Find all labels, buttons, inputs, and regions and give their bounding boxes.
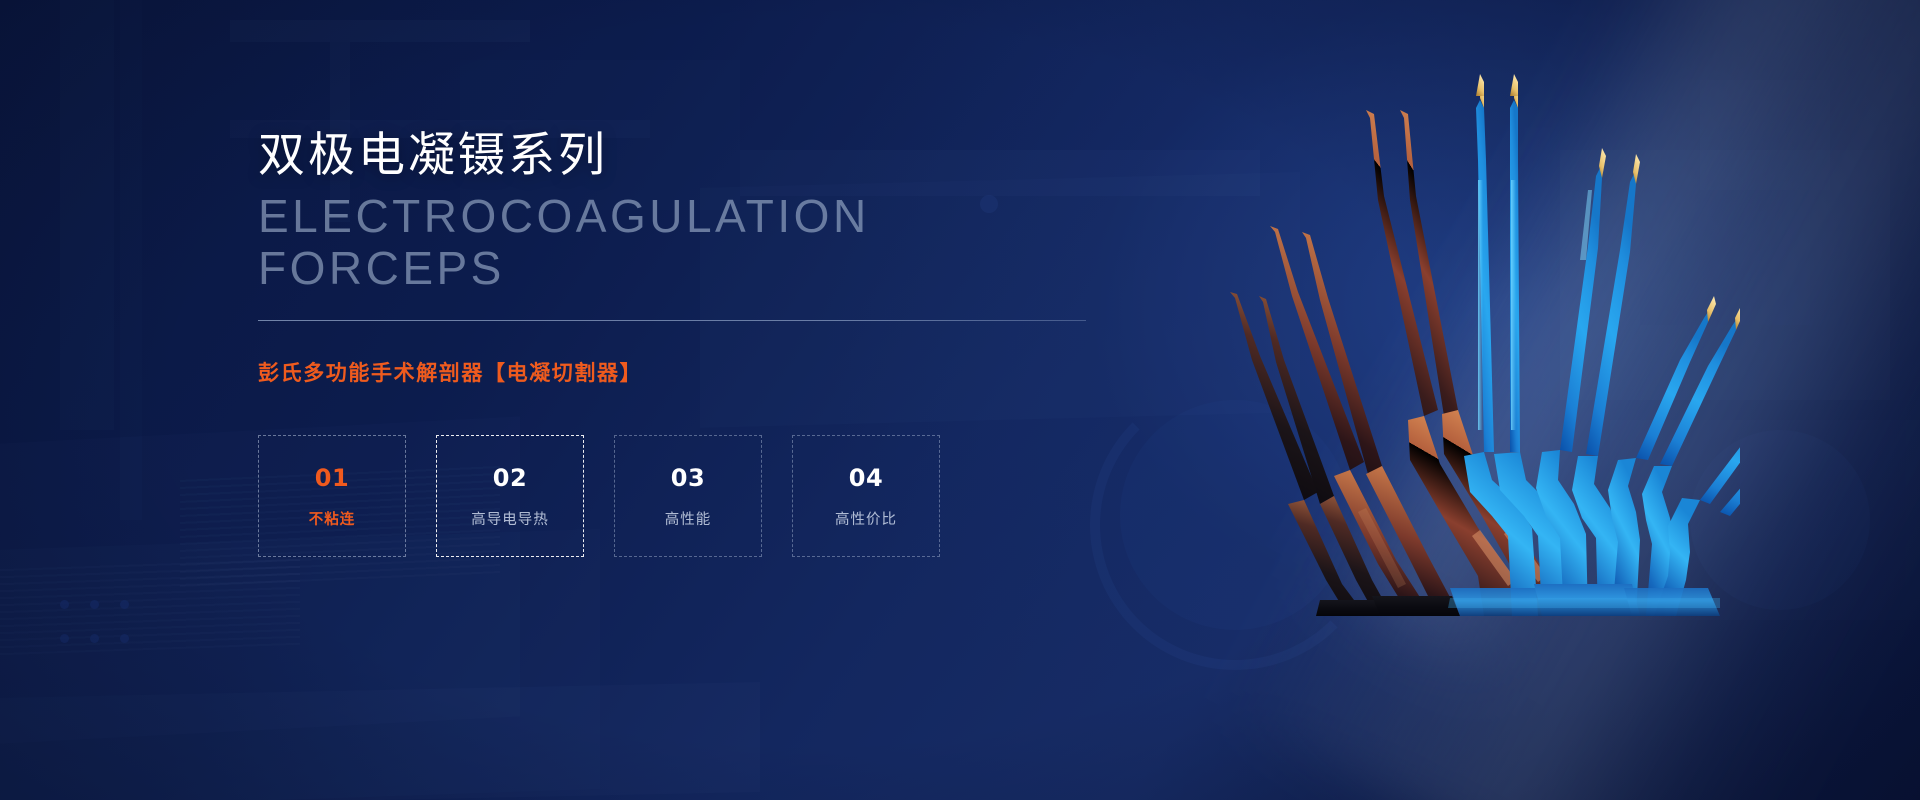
feature-label: 高性价比 [835, 508, 897, 529]
feature-number: 04 [849, 464, 883, 492]
forceps-blue-4 [1654, 396, 1740, 616]
feature-label: 高导电导热 [471, 508, 549, 529]
bg-shape [0, 555, 300, 655]
bg-shape [0, 682, 760, 800]
feature-list: 01 不粘连 02 高导电导热 03 高性能 04 高性价比 [258, 435, 1118, 557]
bg-shape [60, 0, 114, 430]
product-image [1080, 60, 1740, 620]
page-subtitle: 彭氏多功能手术解剖器【电凝切割器】 [258, 357, 1118, 387]
feature-card-02[interactable]: 02 高导电导热 [436, 435, 584, 557]
feature-number: 02 [493, 464, 527, 492]
page-title-en: ELECTROCOAGULATION FORCEPS [258, 191, 1118, 294]
feature-card-03[interactable]: 03 高性能 [614, 435, 762, 557]
feature-number: 03 [671, 464, 705, 492]
product-banner: 双极电凝镊系列 ELECTROCOAGULATION FORCEPS 彭氏多功能… [0, 0, 1920, 800]
page-title-cn: 双极电凝镊系列 [258, 128, 1118, 183]
banner-content: 双极电凝镊系列 ELECTROCOAGULATION FORCEPS 彭氏多功能… [258, 128, 1118, 557]
feature-label: 高性能 [665, 508, 712, 529]
feature-card-01[interactable]: 01 不粘连 [258, 435, 406, 557]
feature-number: 01 [315, 464, 349, 492]
feature-label: 不粘连 [309, 508, 356, 529]
bg-shape [60, 600, 140, 660]
title-divider [258, 320, 1086, 321]
bg-shape [230, 20, 530, 42]
feature-card-04[interactable]: 04 高性价比 [792, 435, 940, 557]
